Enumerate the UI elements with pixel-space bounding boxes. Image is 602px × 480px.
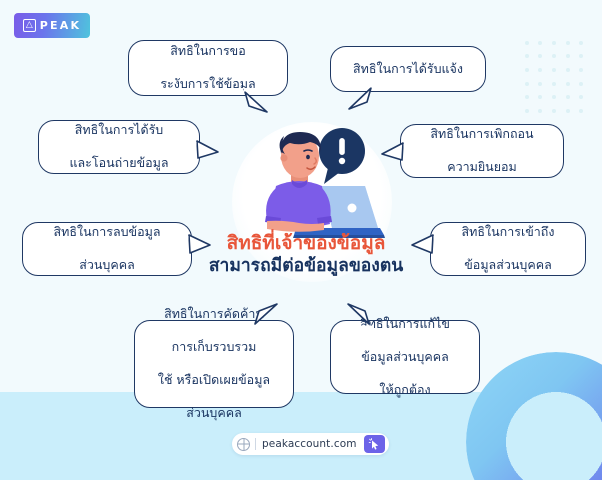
bubble-right-to-be-informed: สิทธิในการได้รับแจ้ง — [330, 46, 486, 92]
dot-grid-decoration — [520, 36, 588, 118]
bubble-tail-up-right — [251, 302, 273, 324]
infographic-canvas: △ PEAK สิทธิในการขอระงับการใช้ข้อมูล สิท… — [0, 0, 602, 480]
peak-a-mark-icon: △ — [23, 19, 36, 32]
footer-url-pill[interactable]: peakaccount.com — [232, 433, 389, 455]
site-url-text: peakaccount.com — [262, 438, 357, 450]
alert-bubble-icon — [319, 128, 365, 184]
bubble-right-to-rectification: สิทธิในการแก้ไข ข้อมูลส่วนบุคคล ให้ถูกต้… — [330, 320, 480, 394]
bubble-right-to-data-portability: สิทธิในการได้รับและโอนถ่ายข้อมูล — [38, 120, 200, 174]
peak-logo: △ PEAK — [14, 13, 90, 38]
bubble-right-to-access: สิทธิในการเข้าถึงข้อมูลส่วนบุคคล — [430, 222, 586, 276]
bubble-tail-up-left — [345, 302, 367, 324]
bubble-tail-down-left — [347, 88, 369, 110]
center-title: สิทธิที่เจ้าของข้อมูล สามารถมีต่อข้อมูลข… — [186, 232, 426, 278]
bubble-right-to-erasure: สิทธิในการลบข้อมูลส่วนบุคคล — [22, 222, 192, 276]
peak-logo-text: PEAK — [40, 19, 81, 32]
bubble-tail-down-right — [243, 92, 265, 114]
bubble-right-to-withdraw-consent: สิทธิในการเพิกถอนความยินยอม — [400, 124, 564, 178]
globe-icon — [237, 438, 250, 451]
bubble-right-to-suspend-use: สิทธิในการขอระงับการใช้ข้อมูล — [128, 40, 288, 96]
illustration-person-at-laptop — [236, 124, 386, 242]
footer-divider — [255, 438, 256, 450]
click-cursor-icon[interactable] — [364, 435, 385, 453]
title-line-1: สิทธิที่เจ้าของข้อมูล — [186, 232, 426, 255]
bubble-right-to-object: สิทธิในการคัดค้าน การเก็บรวบรวม ใช้ หรือ… — [134, 320, 294, 408]
title-line-2: สามารถมีต่อข้อมูลของตน — [186, 256, 426, 278]
bubble-tail-right — [197, 139, 219, 161]
